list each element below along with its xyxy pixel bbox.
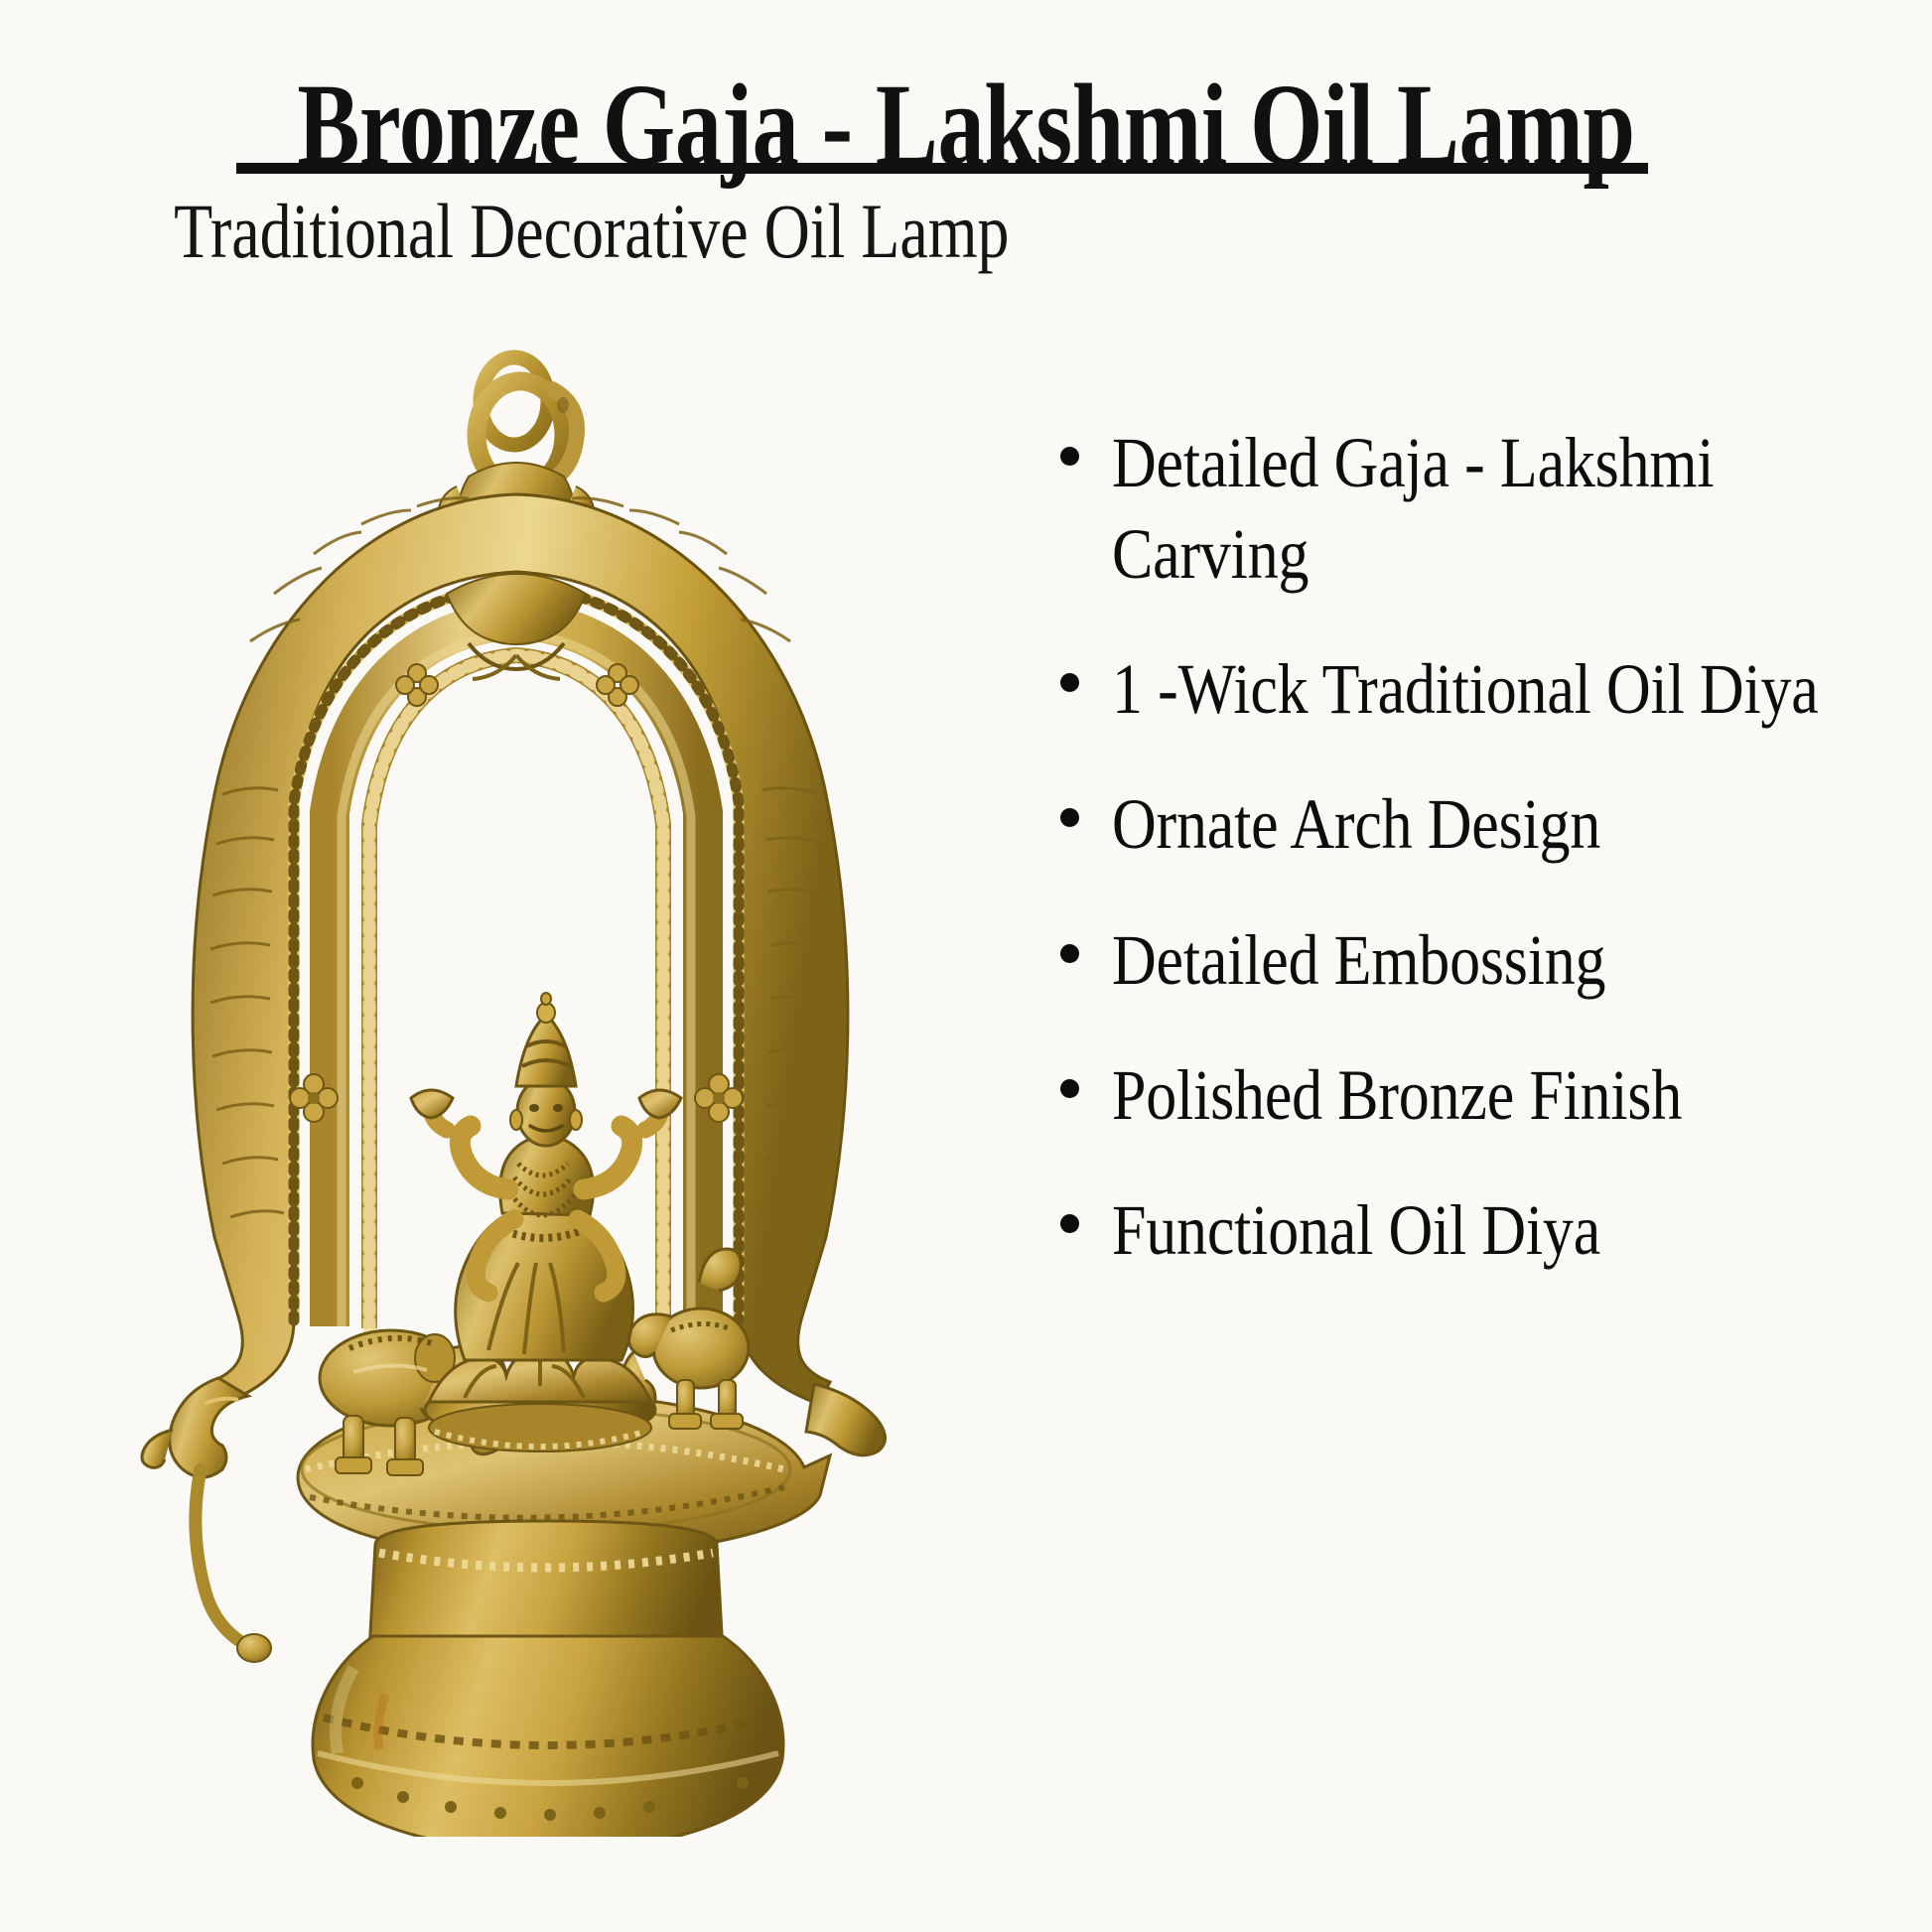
right-flare-tail bbox=[806, 1384, 886, 1455]
bullet-icon bbox=[1060, 1214, 1079, 1233]
bronze-lamp-illustration bbox=[119, 328, 1013, 1837]
bullet-icon bbox=[1060, 673, 1079, 692]
page-subtitle: Traditional Decorative Oil Lamp bbox=[174, 187, 1758, 276]
page-title: Bronze Gaja - Lakshmi Oil Lamp bbox=[194, 0, 1739, 185]
lakshmi-figure bbox=[411, 993, 681, 1360]
wick-spout bbox=[142, 1378, 271, 1662]
feature-label: Detailed Gaja - Lakshmi Carving bbox=[1112, 417, 1914, 600]
pedestal-base bbox=[313, 1521, 783, 1837]
feature-label: Functional Oil Diya bbox=[1112, 1184, 1914, 1276]
header: Bronze Gaja - Lakshmi Oil Lamp bbox=[0, 0, 1932, 185]
feature-item-2: 1 -Wick Traditional Oil Diya bbox=[1112, 643, 1916, 735]
bullet-icon bbox=[1060, 944, 1079, 963]
bullet-icon bbox=[1060, 808, 1079, 827]
feature-label: 1 -Wick Traditional Oil Diya bbox=[1112, 643, 1914, 735]
bullet-icon bbox=[1060, 1079, 1079, 1098]
feature-item-6: Functional Oil Diya bbox=[1112, 1184, 1916, 1276]
product-image bbox=[119, 328, 1013, 1837]
feature-label: Ornate Arch Design bbox=[1112, 778, 1914, 870]
title-underline bbox=[236, 163, 1648, 174]
feature-label: Detailed Embossing bbox=[1112, 914, 1914, 1006]
feature-item-1: Detailed Gaja - Lakshmi Carving bbox=[1112, 417, 1916, 600]
feature-item-5: Polished Bronze Finish bbox=[1112, 1049, 1916, 1141]
feature-label: Polished Bronze Finish bbox=[1112, 1049, 1914, 1141]
feature-item-4: Detailed Embossing bbox=[1112, 914, 1916, 1006]
feature-item-3: Ornate Arch Design bbox=[1112, 778, 1916, 870]
lotus-pedestal bbox=[425, 1350, 655, 1451]
feature-list: Detailed Gaja - Lakshmi Carving 1 -Wick … bbox=[1112, 417, 1916, 1319]
product-infographic-page: Bronze Gaja - Lakshmi Oil Lamp Tradition… bbox=[0, 0, 1932, 1932]
bullet-icon bbox=[1060, 447, 1079, 466]
